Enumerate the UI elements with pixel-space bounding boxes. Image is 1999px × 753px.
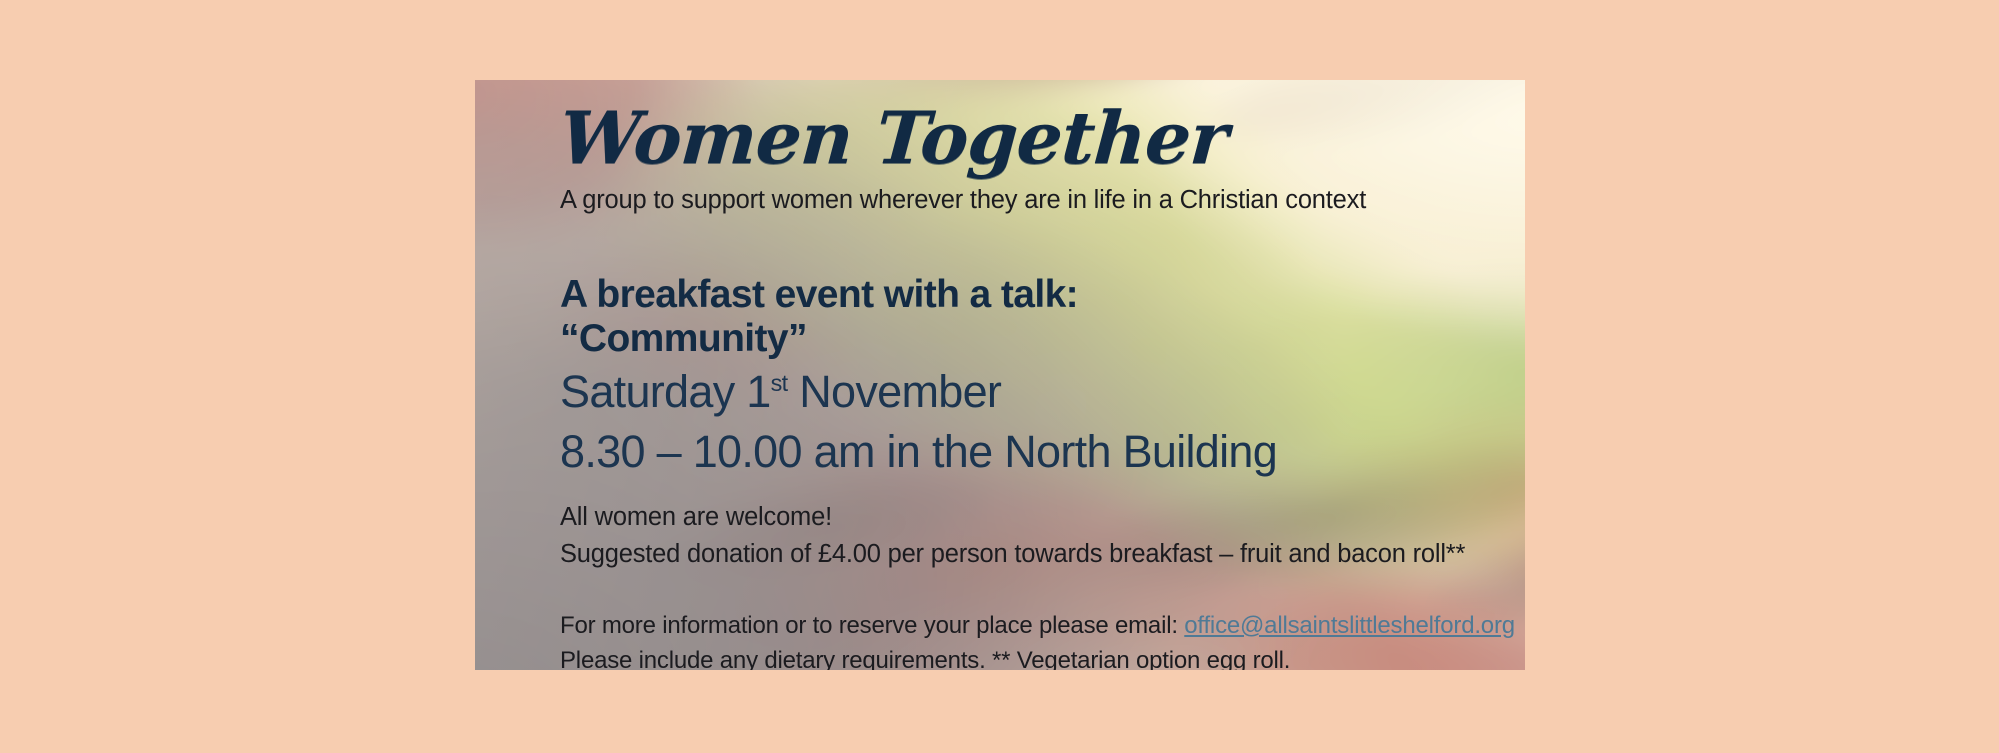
event-headline-line-2: “Community” — [560, 317, 1485, 361]
poster-content: Women Together A group to support women … — [475, 80, 1525, 670]
contact-email-line: For more information or to reserve your … — [560, 609, 1485, 644]
poster-tagline: A group to support women wherever they a… — [560, 186, 1485, 215]
contact-email-link[interactable]: office@allsaintslittleshelford.org — [1184, 612, 1515, 639]
welcome-note: All women are welcome! — [560, 499, 1485, 536]
poster-title: Women Together — [557, 102, 1487, 174]
event-date: Saturday 1st November — [560, 364, 1485, 420]
donation-note: Suggested donation of £4.00 per person t… — [560, 536, 1485, 573]
event-headline-line-1: A breakfast event with a talk: — [560, 273, 1485, 317]
event-time-location: 8.30 – 10.00 am in the North Building — [560, 424, 1485, 480]
contact-block: For more information or to reserve your … — [560, 609, 1485, 670]
event-date-ordinal: st — [771, 370, 788, 396]
dietary-note: Please include any dietary requirements.… — [560, 644, 1485, 670]
event-date-text: Saturday 1 — [560, 366, 771, 417]
event-headline: A breakfast event with a talk: “Communit… — [560, 273, 1485, 360]
event-date-month: November — [787, 366, 1001, 417]
contact-email-prefix: For more information or to reserve your … — [560, 612, 1184, 639]
poster-card: Women Together A group to support women … — [475, 80, 1525, 670]
